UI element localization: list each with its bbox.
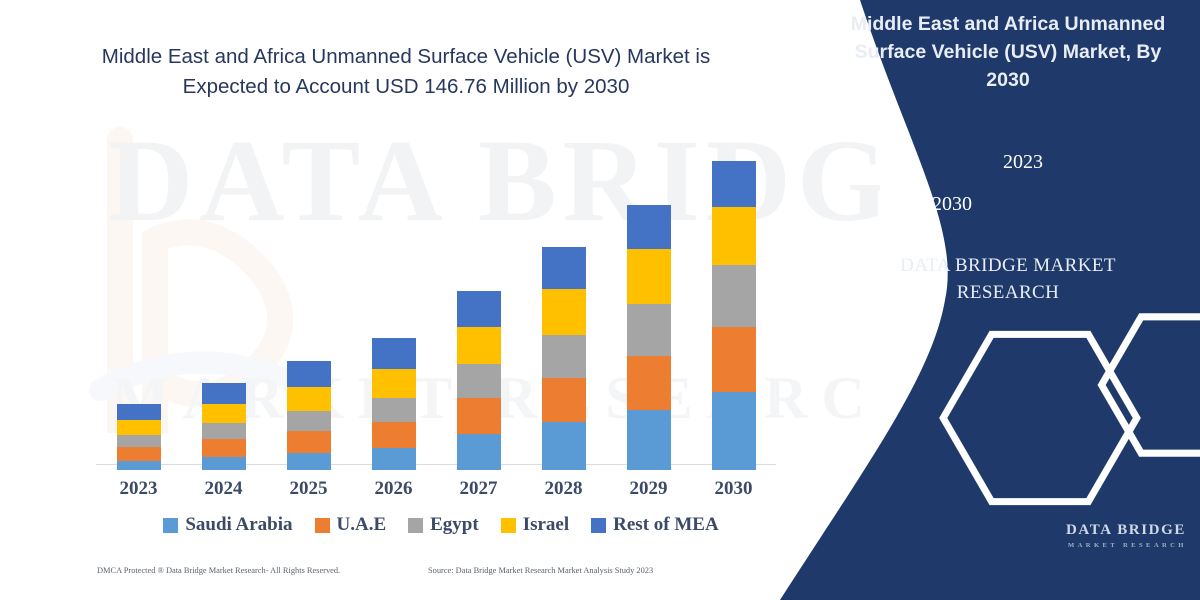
legend-label-rest-of-mea: Rest of MEA (613, 514, 719, 536)
legend-label-israel: Israel (523, 514, 569, 536)
bar-segment-egypt (457, 364, 501, 398)
legend-swatch-rest-of-mea (591, 518, 606, 533)
bar-2029 (627, 205, 671, 470)
legend-swatch-israel (501, 518, 516, 533)
x-axis-label-2023: 2023 (99, 478, 179, 500)
infographic-canvas: DATA BRIDGE MARKET RESEARCH Middle East … (0, 0, 1200, 600)
x-axis-label-2028: 2028 (524, 478, 604, 500)
legend-swatch-egypt (408, 518, 423, 533)
bar-segment-rest-of-mea (542, 247, 586, 289)
chart-legend: Saudi ArabiaU.A.EEgyptIsraelRest of MEA (96, 512, 786, 538)
logo-tagline: MARKET RESEARCH (1068, 542, 1187, 549)
bar-segment-rest-of-mea (712, 161, 756, 207)
hexagon-2023-label: 2023 (1003, 151, 1043, 174)
bar-segment-rest-of-mea (117, 404, 161, 420)
footer: DMCA Protected ® Data Bridge Market Rese… (0, 566, 800, 586)
bar-segment-egypt (542, 335, 586, 378)
panel-title: Middle East and Africa Unmanned Surface … (832, 10, 1184, 94)
bar-segment-u-a-e (287, 431, 331, 453)
bar-segment-egypt (202, 423, 246, 439)
bar-segment-egypt (117, 435, 161, 447)
hexagon-group: 2030 2023 (908, 118, 1108, 228)
bar-segment-rest-of-mea (202, 383, 246, 404)
x-axis-label-2024: 2024 (184, 478, 264, 500)
footer-source-text: Source: Data Bridge Market Research Mark… (428, 566, 653, 575)
brand-line-1: DATA BRIDGE MARKET (832, 252, 1184, 279)
bar-segment-saudi-arabia (202, 457, 246, 470)
legend-label-saudi-arabia: Saudi Arabia (185, 514, 292, 536)
bar-segment-u-a-e (627, 356, 671, 410)
bar-2026 (372, 338, 416, 470)
bar-segment-saudi-arabia (117, 461, 161, 470)
brand-name: DATA BRIDGE MARKET RESEARCH (832, 252, 1184, 306)
bar-segment-u-a-e (542, 378, 586, 422)
x-axis-label-2029: 2029 (609, 478, 689, 500)
bar-segment-israel (627, 249, 671, 304)
bar-segment-israel (372, 369, 416, 398)
legend-swatch-saudi-arabia (163, 518, 178, 533)
bar-segment-u-a-e (202, 439, 246, 457)
bar-segment-israel (457, 327, 501, 364)
legend-swatch-u-a-e (315, 518, 330, 533)
legend-item-u-a-e[interactable]: U.A.E (315, 514, 387, 536)
bar-segment-saudi-arabia (627, 410, 671, 470)
bar-segment-saudi-arabia (712, 392, 756, 470)
bar-segment-rest-of-mea (627, 205, 671, 249)
bar-segment-egypt (372, 398, 416, 422)
bar-segment-israel (287, 387, 331, 411)
logo-wordmark: DATA BRIDGE (1066, 522, 1186, 539)
page-title: Middle East and Africa Unmanned Surface … (86, 42, 726, 102)
bar-segment-egypt (287, 411, 331, 431)
footer-dmca-text: DMCA Protected ® Data Bridge Market Rese… (97, 566, 340, 575)
legend-label-egypt: Egypt (430, 514, 479, 536)
legend-label-u-a-e: U.A.E (337, 514, 387, 536)
bar-segment-saudi-arabia (372, 448, 416, 470)
bar-2027 (457, 291, 501, 470)
legend-item-egypt[interactable]: Egypt (408, 514, 479, 536)
bar-segment-israel (542, 289, 586, 335)
legend-item-saudi-arabia[interactable]: Saudi Arabia (163, 514, 292, 536)
bar-segment-u-a-e (712, 327, 756, 392)
hexagon-2030-label: 2030 (932, 193, 972, 216)
bar-2024 (202, 383, 246, 470)
bar-segment-israel (117, 420, 161, 435)
bar-segment-saudi-arabia (542, 422, 586, 470)
bar-2030 (712, 161, 756, 470)
side-panel: Middle East and Africa Unmanned Surface … (760, 0, 1200, 600)
bar-segment-saudi-arabia (457, 434, 501, 470)
bar-segment-rest-of-mea (287, 361, 331, 387)
company-logo: DATA BRIDGE MARKET RESEARCH (992, 516, 1192, 570)
legend-item-israel[interactable]: Israel (501, 514, 569, 536)
bar-segment-u-a-e (457, 398, 501, 434)
bar-2025 (287, 361, 331, 470)
bar-segment-israel (202, 404, 246, 423)
bar-segment-israel (712, 207, 756, 265)
x-axis-label-2026: 2026 (354, 478, 434, 500)
bar-2028 (542, 247, 586, 470)
bar-segment-egypt (627, 304, 671, 356)
bar-segment-u-a-e (372, 422, 416, 448)
bar-segment-u-a-e (117, 447, 161, 461)
legend-item-rest-of-mea[interactable]: Rest of MEA (591, 514, 719, 536)
x-axis-labels: 20232024202520262027202820292030 (96, 478, 776, 504)
hexagon-2030-shape (943, 334, 1137, 501)
x-axis-label-2027: 2027 (439, 478, 519, 500)
bar-2023 (117, 404, 161, 470)
bar-segment-egypt (712, 265, 756, 327)
bar-segment-rest-of-mea (372, 338, 416, 369)
bar-segment-rest-of-mea (457, 291, 501, 327)
x-axis-label-2025: 2025 (269, 478, 349, 500)
bar-segment-saudi-arabia (287, 453, 331, 470)
bar-chart (96, 140, 776, 470)
brand-line-2: RESEARCH (832, 279, 1184, 306)
